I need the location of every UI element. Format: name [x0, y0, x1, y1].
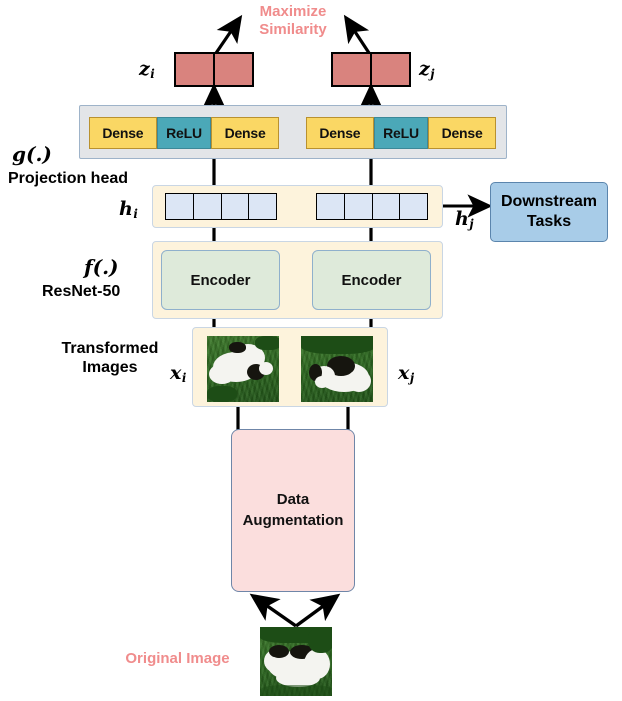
projection-head-right-mlp: Dense ReLU Dense [306, 117, 496, 149]
h-j-label: hj [455, 208, 474, 231]
z-j-cell [372, 54, 409, 85]
dense-block: Dense [211, 117, 279, 149]
dense-block: Dense [306, 117, 374, 149]
projection-head-function-label: g(.) [12, 142, 52, 166]
encoder-name-label: ResNet-50 [42, 283, 148, 302]
encoder-right-box: Encoder [312, 250, 431, 310]
z-i-label: zi [139, 58, 155, 81]
h-j-vector [316, 193, 428, 220]
h-j-cell [400, 194, 427, 219]
h-j-cell [373, 194, 401, 219]
projection-head-name-label: Projection head [8, 170, 158, 189]
relu-block: ReLU [374, 117, 428, 149]
h-i-cell [166, 194, 194, 219]
relu-block: ReLU [157, 117, 211, 149]
original-image [260, 627, 332, 696]
downstream-tasks-box[interactable]: Downstream Tasks [490, 182, 608, 242]
maximize-similarity-label: Maximize Similarity [238, 3, 348, 38]
dense-block: Dense [428, 117, 496, 149]
z-j-label: zj [419, 58, 435, 81]
h-i-cell [249, 194, 276, 219]
encoder-function-label: f(.) [84, 255, 119, 279]
h-i-vector [165, 193, 277, 220]
h-j-cell [317, 194, 345, 219]
h-j-cell [345, 194, 373, 219]
projection-head-left-mlp: Dense ReLU Dense [89, 117, 279, 149]
original-image-label: Original Image [105, 650, 250, 668]
transformed-image-left [207, 336, 279, 402]
z-i-vector [174, 52, 254, 87]
z-j-cell [333, 54, 372, 85]
x-j-label: xj [398, 362, 414, 385]
data-augmentation-box: Data Augmentation [231, 429, 355, 592]
h-i-cell [194, 194, 222, 219]
simclr-architecture-diagram: Maximize Similarity zi zj Dense ReLU Den… [0, 0, 622, 701]
encoder-left-box: Encoder [161, 250, 280, 310]
transformed-images-label: Transformed Images [40, 340, 180, 378]
x-i-label: xi [170, 362, 186, 385]
h-i-label: hi [119, 198, 138, 221]
dense-block: Dense [89, 117, 157, 149]
h-i-cell [222, 194, 250, 219]
transformed-image-right [301, 336, 373, 402]
z-i-cell [215, 54, 252, 85]
z-j-vector [331, 52, 411, 87]
z-i-cell [176, 54, 215, 85]
